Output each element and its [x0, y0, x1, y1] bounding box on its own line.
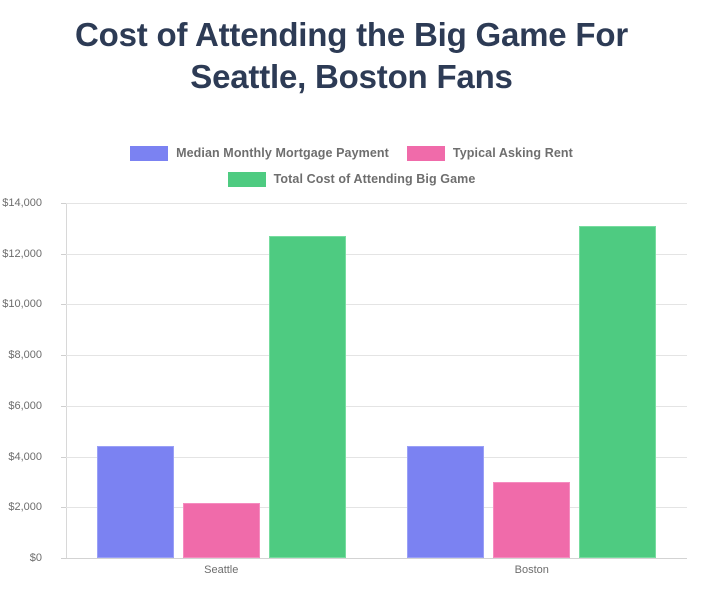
- y-axis-tick-label: $14,000: [0, 197, 42, 209]
- y-axis-tick-mark: [61, 254, 66, 255]
- plot-area: $0$2,000$4,000$6,000$8,000$10,000$12,000…: [66, 203, 687, 558]
- bar-typical-asking-rent[interactable]: [493, 482, 570, 558]
- y-axis-tick-label: $0: [0, 552, 42, 564]
- legend-label: Typical Asking Rent: [453, 142, 573, 164]
- chart-legend: Median Monthly Mortgage PaymentTypical A…: [0, 142, 703, 191]
- y-axis-tick-mark: [61, 457, 66, 458]
- bar-typical-asking-rent[interactable]: [183, 503, 260, 558]
- legend-label: Median Monthly Mortgage Payment: [176, 142, 389, 164]
- legend-color-swatch: [228, 172, 266, 187]
- x-axis-label-seattle: Seattle: [204, 564, 238, 576]
- gridline: [66, 203, 687, 204]
- legend-color-swatch: [407, 146, 445, 161]
- chart-title: Cost of Attending the Big Game For Seatt…: [0, 14, 703, 98]
- y-axis-tick-label: $6,000: [0, 400, 42, 412]
- bar-total-cost-of-attending-big-game[interactable]: [269, 236, 346, 558]
- x-axis-labels: SeattleBoston: [66, 564, 687, 586]
- x-axis-label-boston: Boston: [515, 564, 549, 576]
- y-axis-tick-mark: [61, 304, 66, 305]
- y-axis-tick-mark: [61, 406, 66, 407]
- y-axis-tick-label: $12,000: [0, 248, 42, 260]
- chart-title-line-2: Seattle, Boston Fans: [190, 58, 512, 95]
- y-axis-tick-mark: [61, 355, 66, 356]
- legend-item[interactable]: Total Cost of Attending Big Game: [228, 168, 476, 190]
- bar-total-cost-of-attending-big-game[interactable]: [579, 226, 656, 558]
- bar-median-monthly-mortgage-payment[interactable]: [97, 446, 174, 558]
- legend-row: Total Cost of Attending Big Game: [0, 168, 703, 190]
- legend-label: Total Cost of Attending Big Game: [274, 168, 476, 190]
- legend-row: Median Monthly Mortgage PaymentTypical A…: [0, 142, 703, 164]
- y-axis-tick-mark: [61, 203, 66, 204]
- chart-title-line-1: Cost of Attending the Big Game For: [75, 16, 628, 53]
- y-axis-tick-label: $8,000: [0, 349, 42, 361]
- y-axis-tick-label: $2,000: [0, 501, 42, 513]
- y-axis-tick-label: $10,000: [0, 298, 42, 310]
- bar-median-monthly-mortgage-payment[interactable]: [407, 446, 484, 558]
- legend-item[interactable]: Median Monthly Mortgage Payment: [130, 142, 389, 164]
- legend-color-swatch: [130, 146, 168, 161]
- legend-item[interactable]: Typical Asking Rent: [407, 142, 573, 164]
- y-axis-tick-mark: [61, 507, 66, 508]
- chart-container: Cost of Attending the Big Game For Seatt…: [0, 0, 703, 594]
- y-axis-tick-label: $4,000: [0, 451, 42, 463]
- y-axis-tick-mark: [61, 558, 66, 559]
- gridline: [66, 558, 687, 559]
